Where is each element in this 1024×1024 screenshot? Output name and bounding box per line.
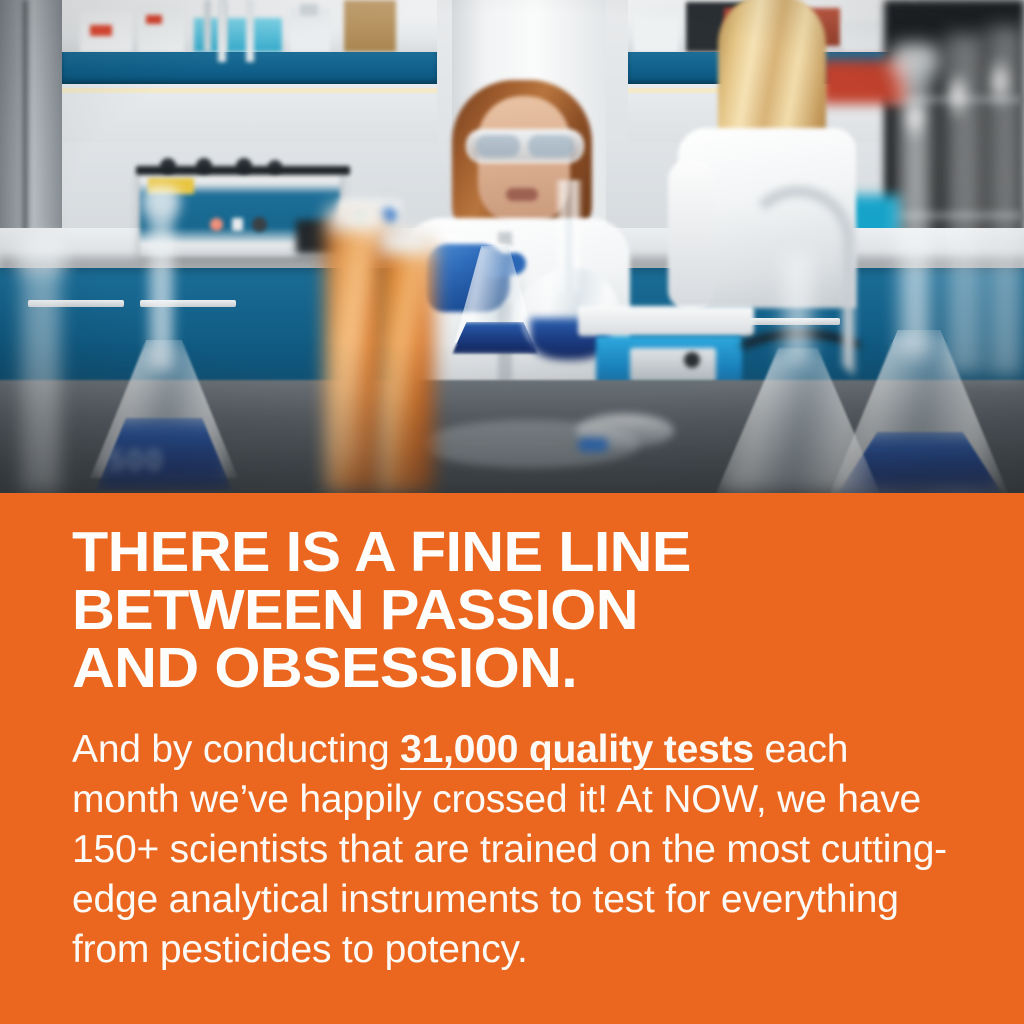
- amber-bottle-cap: [380, 230, 432, 254]
- instrument-knob: [252, 217, 267, 232]
- headline-line-3: AND OBSESSION.: [72, 639, 1008, 697]
- quality-tests-emphasis: 31,000 quality tests: [400, 728, 754, 771]
- instrument-indicator-light: [210, 218, 223, 231]
- amber-reagent-bottle: [326, 216, 386, 493]
- promo-card: 500 THERE IS A FINE LINE BETWEEN PA: [0, 0, 1024, 1024]
- foreground-flask-stopper: [142, 186, 180, 220]
- cabinet-divider: [246, 0, 254, 62]
- graduated-cylinder: [20, 256, 62, 493]
- shelf-label-red: [146, 15, 162, 24]
- goggles-lens: [476, 135, 520, 157]
- cylinder-stopper: [16, 240, 66, 274]
- lab-photo: 500: [0, 0, 1024, 493]
- instrument-knob: [232, 218, 243, 231]
- petri-dish-cap: [578, 438, 608, 452]
- scientist-mouth: [506, 188, 538, 201]
- shelf-bottle: [844, 22, 880, 52]
- balance-button: [684, 352, 700, 368]
- bench-faucet: [742, 186, 854, 376]
- instrument-rail: [136, 166, 350, 175]
- balance-display: [630, 348, 716, 382]
- shelf-bottle: [634, 8, 678, 52]
- flask-volume-label: 500: [108, 444, 204, 478]
- headline: THERE IS A FINE LINE BETWEEN PASSION AND…: [72, 523, 1008, 697]
- balance-platform: [578, 306, 754, 336]
- shelf-bottle: [138, 4, 184, 52]
- glass-glint: [992, 54, 1008, 112]
- shelf-rod: [204, 0, 211, 52]
- flask-stopper: [890, 44, 940, 78]
- amber-bottle-cap: [328, 206, 384, 232]
- goggles-lens: [528, 135, 574, 157]
- body-paragraph: And by conducting 31,000 quality tests e…: [72, 725, 952, 975]
- body-text-before: And by conducting: [72, 728, 400, 771]
- headline-line-1: THERE IS A FINE LINE: [72, 523, 1008, 581]
- cabinet-trim: [62, 88, 437, 93]
- cabinet-divider: [218, 0, 226, 62]
- glass-glint: [908, 96, 922, 142]
- orange-text-panel: THERE IS A FINE LINE BETWEEN PASSION AND…: [0, 493, 1024, 1024]
- amber-reagent-bottle: [378, 240, 434, 493]
- shelf-box-tan: [344, 0, 396, 52]
- amber-bottle-highlight: [340, 230, 356, 470]
- glass-glint: [950, 70, 966, 122]
- shelf-label-red: [90, 25, 112, 36]
- headline-line-2: BETWEEN PASSION: [72, 581, 1008, 639]
- background-scientist-arm: [668, 160, 714, 310]
- shelf-bottle-cap: [300, 4, 318, 16]
